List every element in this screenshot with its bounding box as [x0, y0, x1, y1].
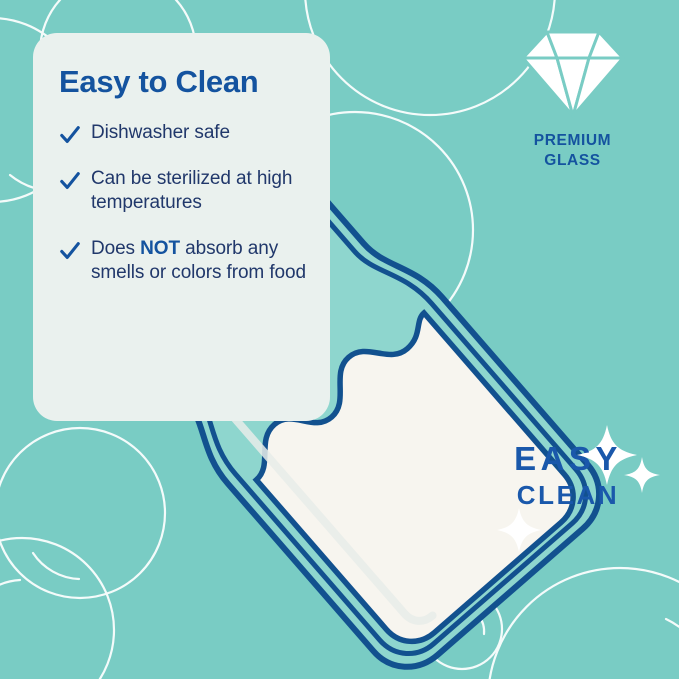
list-item: Does NOT absorb any smells or colors fro…	[59, 237, 308, 286]
page-title: Easy to Clean	[59, 65, 308, 99]
wordmark-line2: CLEAN	[498, 482, 638, 508]
premium-badge-line2: GLASS	[500, 152, 645, 171]
feature-card: Easy to Clean Dishwasher safe Can be ste…	[33, 33, 330, 421]
premium-badge-line1: PREMIUM	[500, 132, 645, 151]
check-icon	[59, 124, 81, 146]
list-item-label: Does NOT absorb any smells or colors fro…	[91, 237, 308, 286]
infographic-canvas: Easy to Clean Dishwasher safe Can be ste…	[0, 0, 679, 679]
check-icon	[59, 170, 81, 192]
list-item-label: Can be sterilized at high temperatures	[91, 167, 308, 216]
list-item-emphasis: NOT	[140, 238, 180, 259]
wordmark-line1: EASY	[498, 442, 638, 475]
list-item-label: Dishwasher safe	[91, 121, 230, 145]
diamond-icon	[521, 28, 625, 120]
premium-glass-badge: PREMIUM GLASS	[500, 28, 645, 171]
list-item: Can be sterilized at high temperatures	[59, 167, 308, 216]
list-item: Dishwasher safe	[59, 121, 308, 146]
check-icon	[59, 240, 81, 262]
easy-clean-wordmark: EASY CLEAN	[498, 442, 638, 508]
list-item-text-before: Does	[91, 238, 140, 259]
